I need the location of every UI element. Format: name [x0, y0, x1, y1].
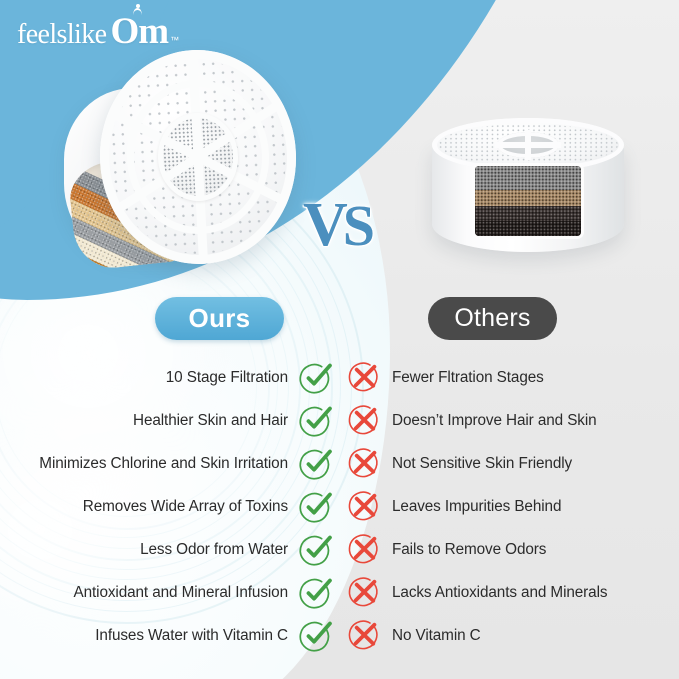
ours-feature-text: Minimizes Chlorine and Skin Irritation [39, 455, 288, 473]
brand-logo-feelslike: feelslike [17, 19, 106, 51]
red-cross-circle-icon [348, 490, 381, 523]
comparison-row: Antioxidant and Mineral InfusionLacks An… [0, 571, 679, 614]
comparison-row: 10 Stage FiltrationFewer Fltration Stage… [0, 356, 679, 399]
ours-cell: Removes Wide Array of Toxins [0, 490, 340, 523]
red-cross-circle-icon [348, 533, 381, 566]
ours-badge: Ours [155, 297, 284, 340]
ours-product-image [62, 48, 292, 280]
others-filter-top [432, 118, 624, 172]
ours-badge-label: Ours [189, 303, 251, 334]
green-check-circle-icon [299, 447, 332, 480]
others-media-band [475, 206, 581, 222]
versus-v: V [303, 191, 343, 259]
ours-feature-text: Antioxidant and Mineral Infusion [74, 584, 289, 602]
others-badge: Others [428, 297, 557, 340]
ours-cell: Healthier Skin and Hair [0, 404, 340, 437]
trademark-symbol: ™ [170, 35, 179, 45]
others-cell: Leaves Impurities Behind [340, 490, 679, 523]
versus-label: VS [303, 194, 370, 256]
ours-cell: Less Odor from Water [0, 533, 340, 566]
red-cross-circle-icon [348, 619, 381, 652]
comparison-table: 10 Stage FiltrationFewer Fltration Stage… [0, 356, 679, 657]
ours-feature-text: 10 Stage Filtration [166, 369, 288, 387]
ours-cell: Antioxidant and Mineral Infusion [0, 576, 340, 609]
brand-logo-om: Om [110, 11, 168, 52]
green-check-circle-icon [299, 404, 332, 437]
green-check-circle-icon [299, 533, 332, 566]
comparison-row: Removes Wide Array of ToxinsLeaves Impur… [0, 485, 679, 528]
ours-feature-text: Healthier Skin and Hair [133, 412, 288, 430]
red-cross-circle-icon [348, 361, 381, 394]
others-feature-text: Doesn’t Improve Hair and Skin [392, 412, 597, 430]
infographic-canvas: feelslike Om ™ [0, 0, 679, 679]
others-cell: Fails to Remove Odors [340, 533, 679, 566]
others-feature-text: Lacks Antioxidants and Minerals [392, 584, 607, 602]
ours-feature-text: Less Odor from Water [140, 541, 288, 559]
ours-cell: 10 Stage Filtration [0, 361, 340, 394]
ours-cell: Minimizes Chlorine and Skin Irritation [0, 447, 340, 480]
green-check-circle-icon [299, 490, 332, 523]
brand-logo: feelslike Om ™ [17, 13, 179, 51]
others-feature-text: Fails to Remove Odors [392, 541, 546, 559]
others-media-band [475, 221, 581, 236]
others-media-band [475, 190, 581, 208]
brand-logo-om-wrap: Om [110, 13, 168, 50]
others-cell: Doesn’t Improve Hair and Skin [340, 404, 679, 437]
comparison-row: Healthier Skin and HairDoesn’t Improve H… [0, 399, 679, 442]
others-cell: Not Sensitive Skin Friendly [340, 447, 679, 480]
red-cross-circle-icon [348, 404, 381, 437]
others-media-band [475, 166, 581, 191]
green-check-circle-icon [299, 619, 332, 652]
others-feature-text: No Vitamin C [392, 627, 481, 645]
green-check-circle-icon [299, 361, 332, 394]
ours-feature-text: Infuses Water with Vitamin C [95, 627, 288, 645]
versus-s: S [343, 193, 370, 258]
comparison-row: Less Odor from WaterFails to Remove Odor… [0, 528, 679, 571]
ours-feature-text: Removes Wide Array of Toxins [83, 498, 288, 516]
ours-cell: Infuses Water with Vitamin C [0, 619, 340, 652]
others-product-image [432, 118, 624, 266]
others-feature-text: Fewer Fltration Stages [392, 369, 544, 387]
others-cell: Lacks Antioxidants and Minerals [340, 576, 679, 609]
om-person-dot-icon [133, 4, 142, 13]
green-check-circle-icon [299, 576, 332, 609]
red-cross-circle-icon [348, 447, 381, 480]
others-cell: Fewer Fltration Stages [340, 361, 679, 394]
others-filter-hub [497, 132, 559, 158]
others-feature-text: Not Sensitive Skin Friendly [392, 455, 572, 473]
others-badge-label: Others [454, 304, 530, 333]
red-cross-circle-icon [348, 576, 381, 609]
others-feature-text: Leaves Impurities Behind [392, 498, 561, 516]
others-filter-media-window [475, 166, 581, 236]
others-cell: No Vitamin C [340, 619, 679, 652]
comparison-row: Infuses Water with Vitamin CNo Vitamin C [0, 614, 679, 657]
comparison-row: Minimizes Chlorine and Skin IrritationNo… [0, 442, 679, 485]
